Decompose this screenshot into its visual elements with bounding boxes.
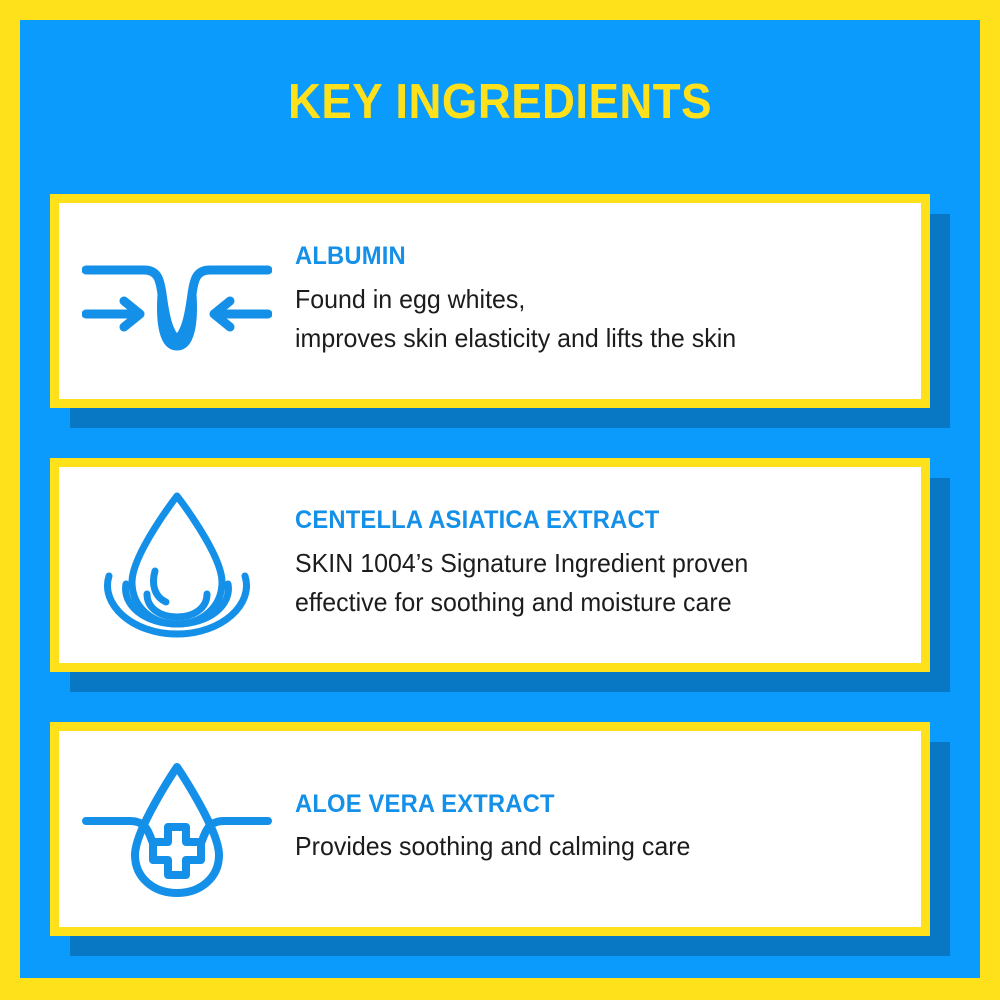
card-text: ALOE VERA EXTRACT Provides soothing and … (295, 791, 921, 867)
ingredient-description-line-1: Found in egg whites, (295, 280, 875, 320)
card-text: ALBUMIN Found in egg whites, improves sk… (295, 243, 921, 359)
card-body: ALOE VERA EXTRACT Provides soothing and … (59, 731, 921, 927)
key-ingredients-poster: KEY INGREDIENTS (0, 0, 1000, 1000)
ingredient-description-line-2: improves skin elasticity and lifts the s… (295, 319, 875, 359)
card-frame: ALBUMIN Found in egg whites, improves sk… (50, 194, 930, 408)
ingredient-name: ALBUMIN (295, 243, 869, 271)
card-frame: ALOE VERA EXTRACT Provides soothing and … (50, 722, 930, 936)
ingredient-description-line-1: Provides soothing and calming care (295, 827, 875, 867)
ingredient-description-line-2: effective for soothing and moisture care (295, 583, 875, 623)
card-body: CENTELLA ASIATICA EXTRACT SKIN 1004’s Si… (59, 467, 921, 663)
card-body: ALBUMIN Found in egg whites, improves sk… (59, 203, 921, 399)
ingredient-card-centella-asiatica-extract: CENTELLA ASIATICA EXTRACT SKIN 1004’s Si… (50, 458, 930, 672)
pore-tightening-icon (59, 203, 295, 399)
card-text: CENTELLA ASIATICA EXTRACT SKIN 1004’s Si… (295, 507, 921, 623)
droplet-with-cross-icon (59, 731, 295, 927)
card-frame: CENTELLA ASIATICA EXTRACT SKIN 1004’s Si… (50, 458, 930, 672)
ingredient-card-albumin: ALBUMIN Found in egg whites, improves sk… (50, 194, 930, 408)
ingredient-description-line-1: SKIN 1004’s Signature Ingredient proven (295, 544, 875, 584)
water-droplet-ripple-icon (59, 467, 295, 663)
ingredient-card-aloe-vera-extract: ALOE VERA EXTRACT Provides soothing and … (50, 722, 930, 936)
ingredient-name: ALOE VERA EXTRACT (295, 791, 869, 819)
page-title: KEY INGREDIENTS (35, 78, 965, 127)
ingredient-name: CENTELLA ASIATICA EXTRACT (295, 507, 869, 535)
